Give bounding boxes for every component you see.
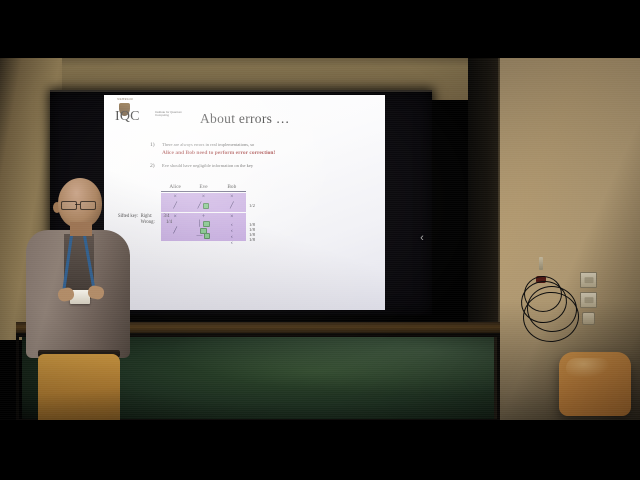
sifted-wrong-label: Wrong: [141, 220, 155, 225]
column-header-eve: Eve [189, 184, 217, 190]
qkd-table: Alice Eve Bob × × × ╱ ╱ ╱ 1/2 [161, 184, 281, 241]
bullet-body: Eve should have negligible information o… [162, 163, 253, 168]
sifted-key-values: Right: 3/4 Wrong: 1/4 [141, 214, 172, 225]
bullet-emphasis: Alice and Bob need to perform error corr… [162, 150, 375, 156]
photon-icon [203, 203, 210, 209]
cell-alice: × [161, 193, 189, 203]
photon-icon [204, 233, 211, 239]
letterbox-bottom [0, 420, 640, 480]
bullet-text: There are always errors in real implemen… [162, 142, 375, 156]
bullet-body: There are always errors in real implemen… [162, 142, 254, 147]
chevron-left-icon[interactable]: ‹ [414, 230, 430, 246]
light-switch-icon[interactable] [580, 272, 597, 288]
light-switch-icon[interactable] [580, 292, 597, 308]
table-block-two: × + × │ ‹ ╱ ‹ [161, 213, 246, 241]
projection-screen-top-highlight [50, 90, 432, 92]
sifted-wrong-row: Wrong: 1/4 [141, 220, 172, 226]
list-item: 2) Eve should have negligible informatio… [150, 163, 375, 169]
lecture-hall-photo: WATERLOO IQC Institute for Quantum Compu… [0, 0, 640, 480]
glasses-icon [61, 201, 99, 208]
slide-title: About errors … [104, 111, 385, 127]
room-background: WATERLOO IQC Institute for Quantum Compu… [0, 0, 640, 480]
bullet-text: Eve should have negligible information o… [162, 163, 375, 169]
cell-eve: × [189, 193, 217, 203]
presenter-neck [70, 222, 92, 236]
sifted-right-label: Right: [141, 214, 153, 219]
presenter [18, 178, 136, 420]
cell-bob: × [218, 213, 246, 223]
cell-eve: ╱ [189, 202, 217, 212]
cell-eve: — [189, 232, 217, 242]
column-header-alice: Alice [161, 184, 189, 190]
column-header-bob: Bob [218, 184, 246, 190]
cell-alice: ╱ [161, 202, 189, 212]
table-row: ╱ ╱ ╱ [161, 202, 246, 212]
list-item: 1) There are always errors in real imple… [150, 142, 375, 156]
photon-icon [203, 221, 210, 227]
table-block-one: × × × ╱ ╱ ╱ 1/2 [161, 193, 246, 212]
cell-bob: × [218, 193, 246, 203]
sifted-wrong-value: 1/4 [156, 220, 172, 226]
power-outlet-icon [582, 312, 595, 325]
table-row: × × × [161, 193, 246, 203]
cell-bob: ‹ [218, 240, 246, 246]
cell-bob: ╱ [218, 202, 246, 212]
chair-highlight [566, 358, 610, 378]
cable-hook [539, 257, 543, 270]
crest-wordmark: WATERLOO [115, 98, 135, 101]
letterbox-top [0, 0, 640, 58]
cell-alice: ╱ [161, 228, 189, 234]
probability-label: 1/8 [249, 237, 255, 242]
probability-label: 1/2 [249, 203, 255, 208]
table-header-row: Alice Eve Bob [161, 184, 246, 192]
presentation-slide: WATERLOO IQC Institute for Quantum Compu… [104, 95, 385, 310]
bullet-number: 1) [150, 142, 155, 148]
bullet-number: 2) [150, 163, 155, 169]
presenter-trousers [38, 354, 120, 420]
slide-bullet-list: 1) There are always errors in real imple… [150, 142, 375, 177]
